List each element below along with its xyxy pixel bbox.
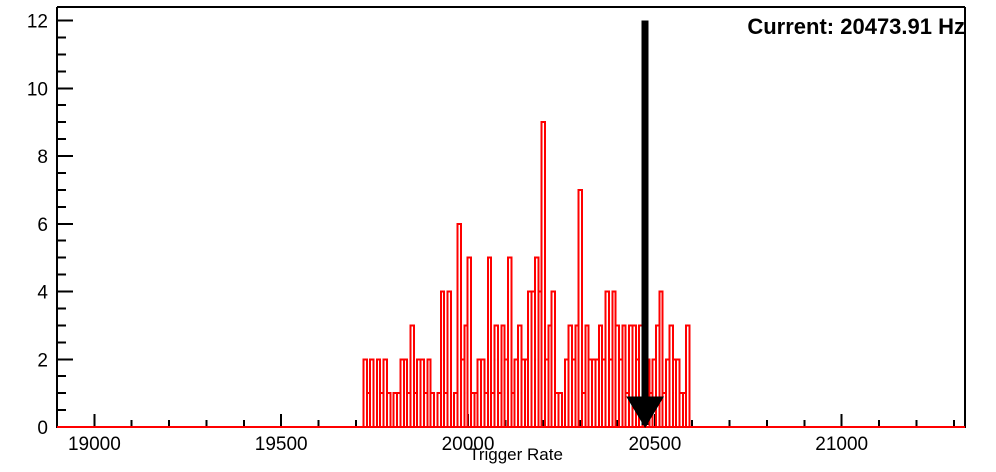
x-axis-tick-labels: 1900019500200002050021000 (68, 434, 868, 455)
histogram-series[interactable] (57, 122, 965, 427)
histogram-bar[interactable] (431, 393, 434, 427)
y-tick-label: 2 (37, 350, 48, 371)
x-tick-label: 21000 (815, 434, 868, 455)
x-tick-label: 19500 (255, 434, 308, 455)
y-tick-label: 8 (37, 147, 48, 168)
root-canvas: 024681012 1900019500200002050021000 Trig… (0, 0, 996, 472)
histogram-bar[interactable] (686, 325, 689, 427)
y-axis-tick-labels: 024681012 (27, 12, 49, 439)
histogram-bar[interactable] (579, 190, 582, 427)
histogram-plot[interactable]: 024681012 1900019500200002050021000 Trig… (0, 0, 996, 472)
y-tick-label: 10 (27, 79, 48, 100)
y-tick-label: 12 (27, 12, 48, 33)
histogram-bar[interactable] (370, 359, 373, 427)
y-tick-label: 0 (37, 418, 48, 439)
y-axis-ticks (57, 21, 73, 427)
x-tick-label: 20500 (628, 434, 681, 455)
histogram-bar[interactable] (558, 393, 561, 427)
status-badge-current-rate: Current: 20473.91 Hz (747, 14, 965, 40)
y-tick-label: 4 (37, 283, 48, 304)
x-axis-title: Trigger Rate (469, 445, 563, 464)
y-tick-label: 6 (37, 215, 48, 236)
x-tick-label: 19000 (68, 434, 121, 455)
histogram-bar[interactable] (387, 393, 390, 427)
histogram-bar[interactable] (447, 292, 450, 427)
